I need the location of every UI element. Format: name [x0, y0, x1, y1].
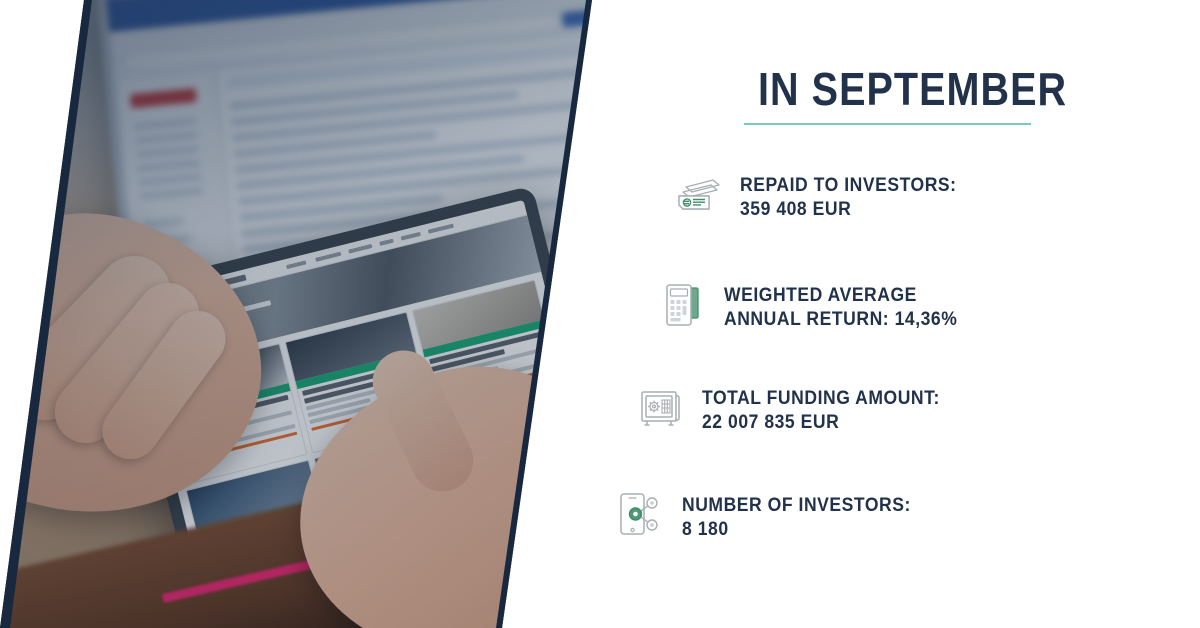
stat-value: 8 180 — [682, 518, 729, 540]
banknotes-icon — [676, 175, 722, 220]
stat-value: 22 007 835 EUR — [702, 411, 839, 433]
page-title-text: IN SEPTEMBER — [758, 66, 1016, 112]
stat-label: NUMBER OF INVESTORS: — [682, 494, 911, 516]
page-title: IN SEPTEMBER — [737, 66, 1037, 125]
stat-weighted-average-annual-return: WEIGHTED AVERAGE ANNUAL RETURN: 14,36% — [662, 281, 983, 334]
stat-text: WEIGHTED AVERAGE ANNUAL RETURN: 14,36% — [724, 284, 957, 332]
title-underline — [744, 123, 1031, 125]
stat-total-funding-amount: TOTAL FUNDING AMOUNT: 22 007 835 EUR — [638, 386, 966, 435]
phone-share-network-icon — [616, 489, 664, 546]
stat-number-of-investors: NUMBER OF INVESTORS: 8 180 — [616, 489, 936, 546]
calculator-icon — [662, 281, 708, 334]
poster-canvas: IN SEPTEMBER — [0, 0, 1200, 628]
stat-value: 359 408 EUR — [740, 198, 851, 220]
stat-text: TOTAL FUNDING AMOUNT: 22 007 835 EUR — [702, 387, 940, 435]
stat-value: ANNUAL RETURN: 14,36% — [724, 308, 957, 330]
stat-label: REPAID TO INVESTORS: — [740, 174, 957, 196]
stat-text: NUMBER OF INVESTORS: 8 180 — [682, 494, 911, 542]
stat-repaid-to-investors: REPAID TO INVESTORS: 359 408 EUR — [676, 174, 981, 222]
stat-text: REPAID TO INVESTORS: 359 408 EUR — [740, 174, 957, 222]
stat-label: TOTAL FUNDING AMOUNT: — [702, 387, 940, 409]
stat-label: WEIGHTED AVERAGE — [724, 284, 917, 306]
content-panel: IN SEPTEMBER — [600, 0, 1200, 628]
safe-vault-icon — [638, 386, 684, 435]
